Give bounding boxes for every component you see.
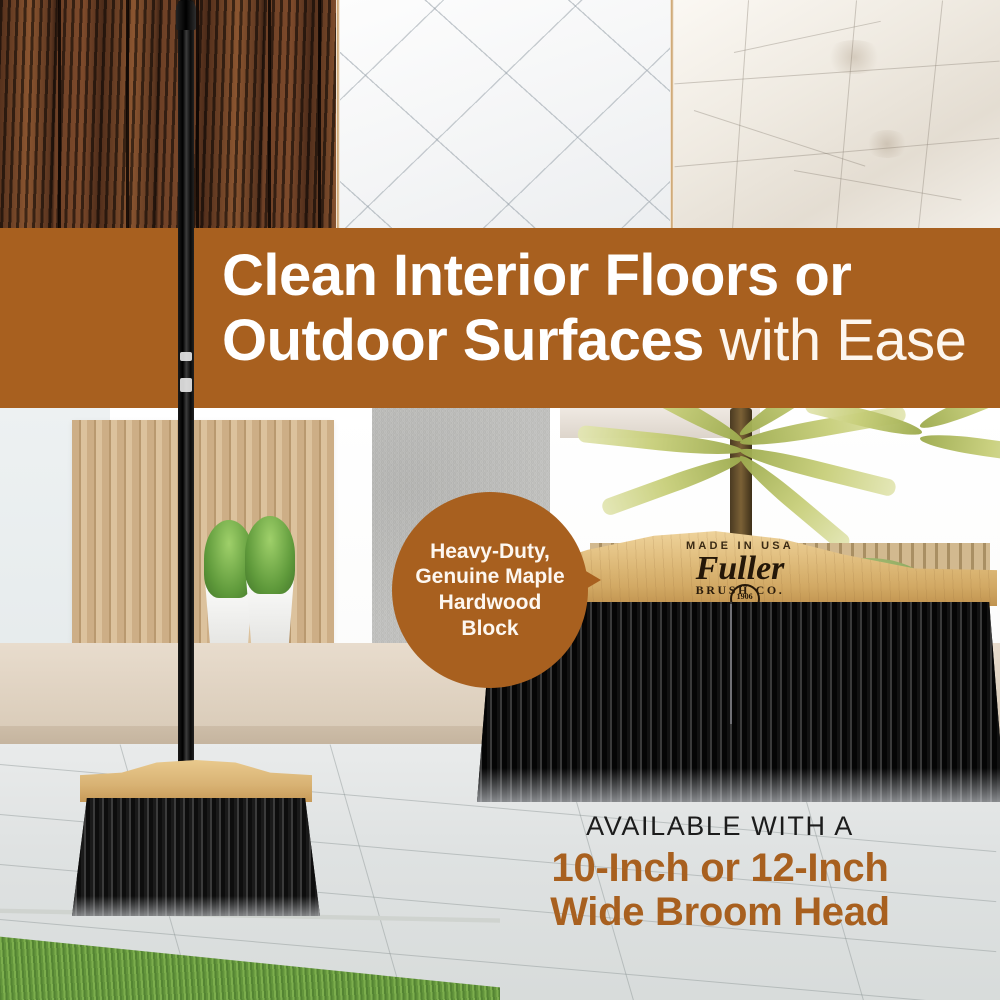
bristle-center-seam [730, 604, 732, 724]
fuller-brand-logo: MADE IN USA 1906 Fuller BRUSH CO. [615, 540, 865, 598]
callout-line-4: Block [461, 616, 518, 642]
broom-handle-cap [176, 0, 196, 30]
broom-handle-marking-1 [180, 352, 192, 361]
broom-bristles-left [72, 798, 320, 916]
caption-headline-line-1: 10-Inch or 12-Inch [520, 846, 920, 891]
broom-handle [178, 0, 194, 790]
callout-text: Heavy-Duty, Genuine Maple Hardwood Block [392, 492, 588, 688]
caption-eyebrow: AVAILABLE WITH A [520, 812, 920, 842]
caption-headline-line-2: Wide Broom Head [520, 890, 920, 935]
callout-line-3: Hardwood [439, 590, 542, 616]
broom-maple-block-left [80, 760, 312, 802]
broom-handle-marking-2 [180, 378, 192, 392]
availability-caption: AVAILABLE WITH A 10-Inch or 12-Inch Wide… [520, 812, 920, 935]
fuller-wordmark: Fuller [696, 553, 785, 585]
product-marketing-image: Clean Interior Floors or Outdoor Surface… [0, 0, 1000, 1000]
full-broom-product [60, 0, 340, 1000]
floor-panel-marble [674, 0, 1000, 230]
callout-line-1: Heavy-Duty, [430, 539, 550, 565]
floor-panel-white-tile [340, 0, 670, 230]
feature-callout-badge: Heavy-Duty, Genuine Maple Hardwood Block [392, 492, 588, 688]
banner-title-line-2-light: with Ease [704, 308, 967, 373]
callout-line-2: Genuine Maple [415, 564, 564, 590]
